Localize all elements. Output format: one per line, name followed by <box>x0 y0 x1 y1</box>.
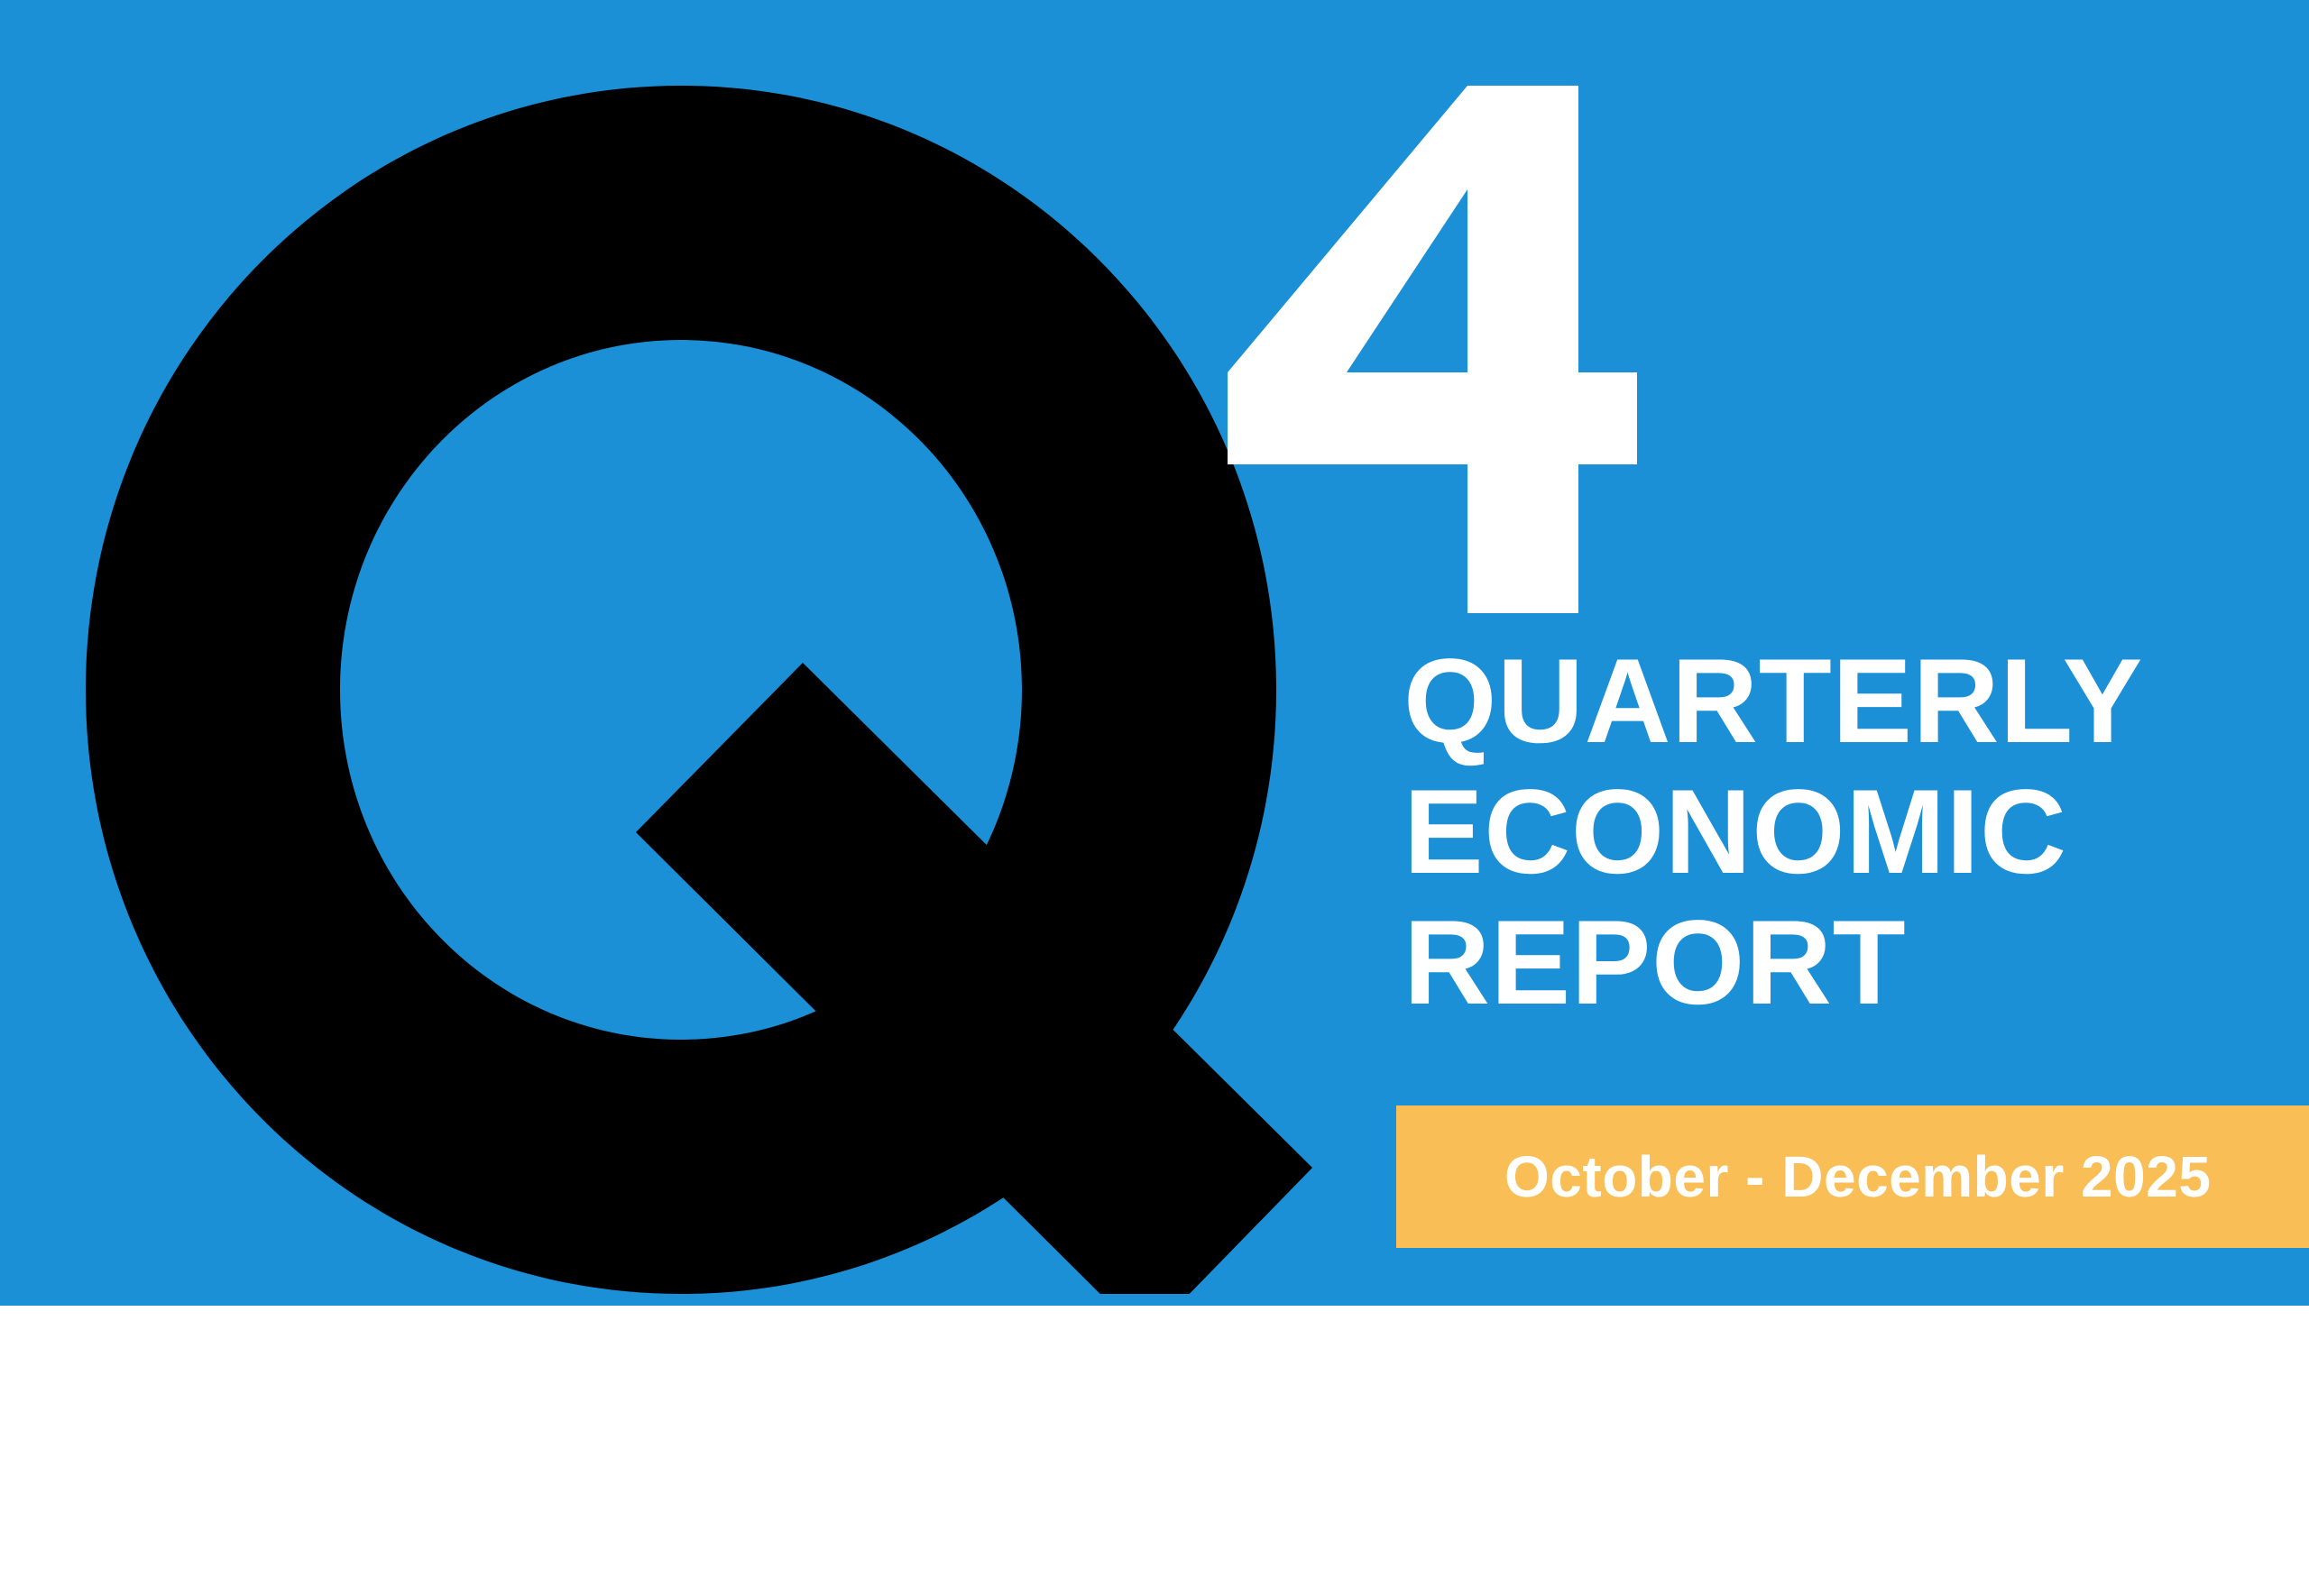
title-line-3: REPORT <box>1403 916 2309 1010</box>
title-line-1: QUARTERLY <box>1403 655 2309 748</box>
hero-panel: QUARTERLY ECONOMIC REPORT October - Dece… <box>0 0 2309 1306</box>
report-title: QUARTERLY ECONOMIC REPORT <box>1403 655 2309 1010</box>
date-range-label: October - December 2025 <box>1504 1143 2211 1210</box>
quarter-letter-q-icon <box>86 86 1312 1294</box>
footer-bar: British Chambers of Commerce Accredited <box>0 1306 2309 1596</box>
quarter-number-four-icon <box>1213 86 1682 613</box>
date-range-banner: October - December 2025 <box>1396 1105 2309 1248</box>
report-cover-page: QUARTERLY ECONOMIC REPORT October - Dece… <box>0 0 2309 1596</box>
title-line-2: ECONOMIC <box>1403 785 2309 879</box>
